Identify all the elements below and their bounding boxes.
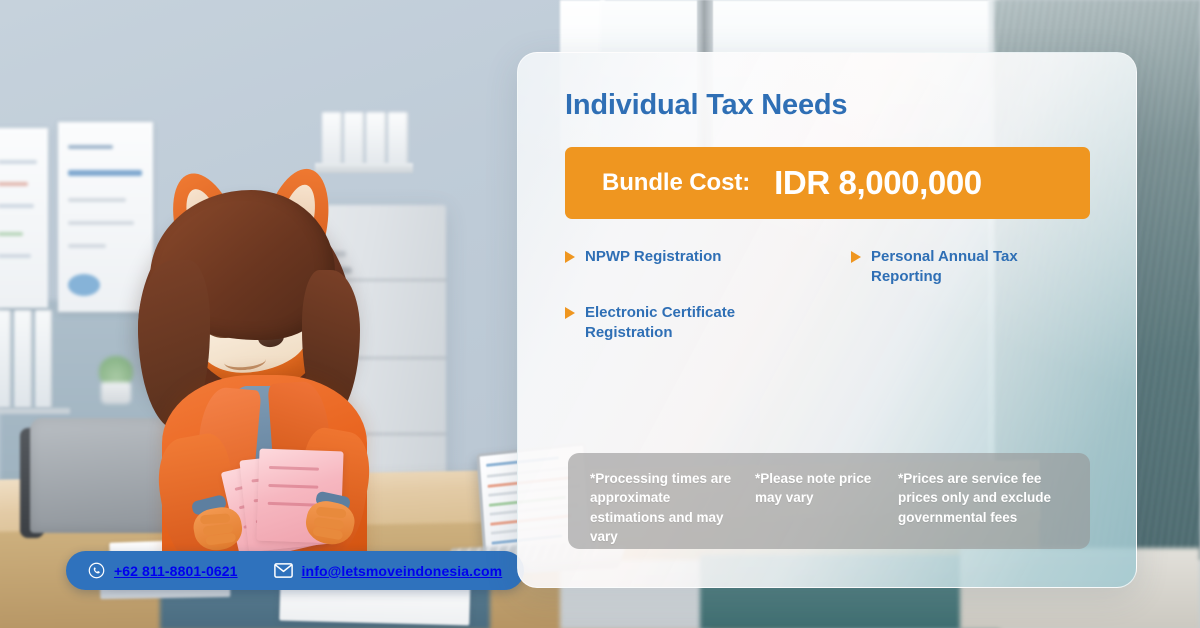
service-item-personal-annual-tax-reporting: Personal Annual Tax Reporting xyxy=(851,247,1090,287)
fox-character xyxy=(120,150,440,570)
envelope-icon xyxy=(274,563,293,578)
contact-email[interactable]: info@letsmoveindonesia.com xyxy=(274,563,503,579)
service-label: Personal Annual Tax Reporting xyxy=(871,247,1051,287)
ring-binders-left-shelf xyxy=(0,310,52,408)
contact-phone[interactable]: +62 811-8801-0621 xyxy=(88,562,238,579)
service-label: NPWP Registration xyxy=(585,247,721,267)
service-label: Electronic Certificate Registration xyxy=(585,303,775,343)
price-banner: Bundle Cost: IDR 8,000,000 xyxy=(565,147,1090,219)
shelf-line xyxy=(0,408,70,414)
service-item-electronic-certificate-registration: Electronic Certificate Registration xyxy=(565,303,837,343)
service-item-npwp-registration: NPWP Registration xyxy=(565,247,837,287)
disclaimer-price-may-vary: *Please note price may vary xyxy=(755,469,898,508)
whatsapp-icon xyxy=(88,562,105,579)
contact-pill: +62 811-8801-0621 info@letsmoveindonesia… xyxy=(66,551,524,590)
price-label: Bundle Cost: xyxy=(602,169,750,197)
price-value: IDR 8,000,000 xyxy=(774,164,982,202)
bullet-arrow-icon xyxy=(565,307,575,319)
poster-canvas: +62 811-8801-0621 info@letsmoveindonesia… xyxy=(0,0,1200,628)
bullet-arrow-icon xyxy=(851,251,861,263)
offer-card: Individual Tax Needs Bundle Cost: IDR 8,… xyxy=(517,52,1137,588)
contact-email-label: info@letsmoveindonesia.com xyxy=(302,563,503,579)
disclaimer-processing-times: *Processing times are approximate estima… xyxy=(590,469,755,547)
contact-phone-label: +62 811-8801-0621 xyxy=(114,563,238,579)
page-title: Individual Tax Needs xyxy=(565,89,1090,122)
bullet-arrow-icon xyxy=(565,251,575,263)
disclaimer-bar: *Processing times are approximate estima… xyxy=(568,453,1090,549)
wall-poster-1 xyxy=(0,128,48,308)
disclaimer-service-fee-only: *Prices are service fee prices only and … xyxy=(898,469,1090,527)
services-list: NPWP Registration Personal Annual Tax Re… xyxy=(565,247,1090,343)
